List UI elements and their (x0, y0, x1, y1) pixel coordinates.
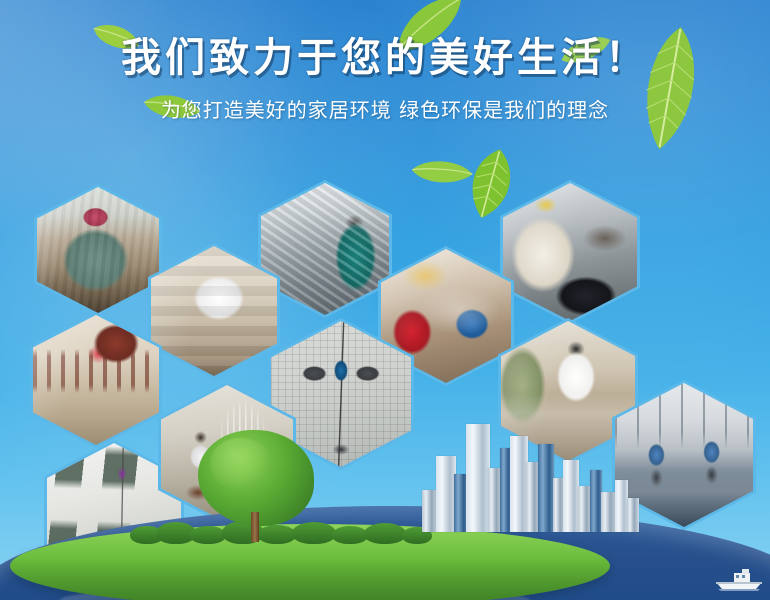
banner-stage: 我们致力于您的美好生活！ 为您打造美好的家居环境 绿色环保是我们的理念 (0, 0, 770, 600)
hex-tile-masonry-worker[interactable] (34, 184, 162, 316)
leaf-center-large-icon (455, 145, 525, 228)
boat-icon (712, 566, 766, 597)
headline-block: 我们致力于您的美好生活！ 为您打造美好的家居环境 绿色环保是我们的理念 (0, 0, 770, 123)
page-subtitle: 为您打造美好的家居环境 绿色环保是我们的理念 (0, 80, 770, 123)
island-tree (196, 430, 316, 542)
city-skyline (420, 410, 660, 532)
photo-duct-lines (261, 183, 389, 315)
hex-tile-handrail-painting[interactable] (30, 312, 162, 448)
page-title: 我们致力于您的美好生活！ (0, 0, 770, 80)
photo-texture-overlay (37, 187, 159, 313)
photo-floor-sheen (33, 315, 159, 445)
